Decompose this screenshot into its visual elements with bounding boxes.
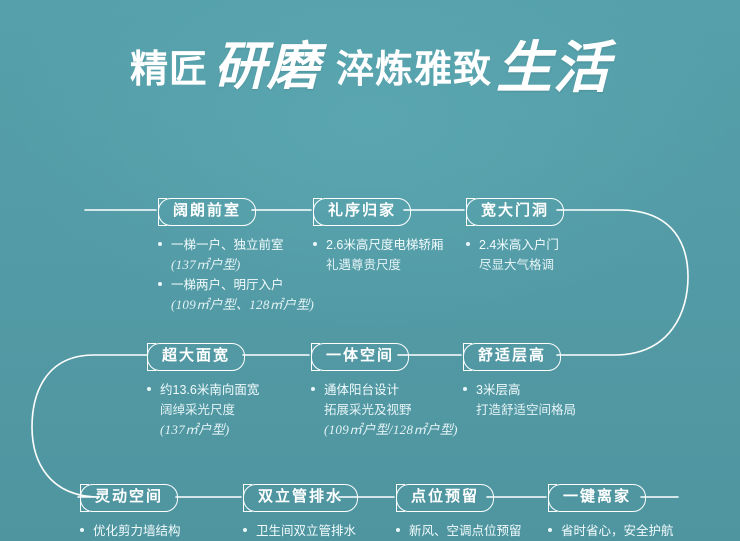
- feature-card-lixuguijia[interactable]: 礼序归家 2.6米高尺度电梯轿厢礼遇尊贵尺度: [313, 198, 443, 275]
- bullet-text: 新风、空调点位预留: [409, 524, 522, 538]
- feature-card-lingdongkongjian[interactable]: 灵动空间 优化剪力墙结构实现空间多变: [80, 484, 181, 541]
- bullet-text: 卫生间双立管排水: [256, 524, 356, 538]
- feature-card-shushicenggao[interactable]: 舒适层高 3米层高打造舒适空间格局: [463, 343, 576, 420]
- feature-bullet-list: 2.6米高尺度电梯轿厢礼遇尊贵尺度: [313, 235, 443, 275]
- feature-title-badge[interactable]: 阔朗前室: [158, 198, 256, 226]
- feature-title-badge[interactable]: 点位预留: [396, 484, 494, 512]
- feature-card-yijianlijia[interactable]: 一键离家 省时省心，安全护航: [548, 484, 674, 541]
- bullet-subtext: 尽显大气格调: [479, 255, 564, 275]
- feature-bullet-list: 约13.6米南向面宽阔绰采光尺度(137㎡户型): [147, 380, 259, 440]
- bullet-dot-icon: [158, 242, 162, 246]
- bullet-dot-icon: [548, 528, 552, 532]
- poster-canvas: 精匠研磨淬炼雅致生活 阔朗前室 一梯一户、独立前室(137㎡户型) 一梯两户、明…: [0, 0, 740, 541]
- bullet-text: 2.6米高尺度电梯轿厢: [326, 238, 443, 252]
- feature-title-badge[interactable]: 一体空间: [311, 343, 409, 371]
- bullet-subtext: 礼遇尊贵尺度: [326, 255, 443, 275]
- feature-bullet-list: 2.4米高入户门尽显大气格调: [466, 235, 564, 275]
- list-item: 2.4米高入户门尽显大气格调: [466, 235, 564, 275]
- bullet-text: 通体阳台设计: [324, 383, 399, 397]
- feature-bullet-list: 通体阳台设计拓展采光及视野(109㎡户型/128㎡户型): [311, 380, 458, 440]
- feature-bullet-list: 卫生间双立管排水有效防止异味: [243, 521, 358, 541]
- bullet-subtext: 阔绰采光尺度: [160, 400, 259, 420]
- feature-card-dianweiyuliu[interactable]: 点位预留 新风、空调点位预留便于后期装修: [396, 484, 522, 541]
- feature-bullet-list: 一梯一户、独立前室(137㎡户型) 一梯两户、明厅入户(109㎡户型、128㎡户…: [158, 235, 314, 315]
- bullet-subtext: 拓展采光及视野: [324, 400, 458, 420]
- list-item: 省时省心，安全护航: [548, 521, 674, 541]
- feature-title-badge[interactable]: 礼序归家: [313, 198, 411, 226]
- bullet-dot-icon: [466, 242, 470, 246]
- feature-title-badge[interactable]: 超大面宽: [147, 343, 245, 371]
- title-part-1: 精匠: [130, 51, 208, 89]
- list-item: 一梯一户、独立前室(137㎡户型): [158, 235, 314, 275]
- bullet-subtext-2: (137㎡户型): [160, 420, 259, 440]
- bullet-dot-icon: [243, 528, 247, 532]
- list-item: 优化剪力墙结构实现空间多变: [80, 521, 181, 541]
- bullet-dot-icon: [313, 242, 317, 246]
- bullet-text: 3米层高: [476, 383, 520, 397]
- bullet-subtext-2: (109㎡户型/128㎡户型): [324, 420, 458, 440]
- list-item: 2.6米高尺度电梯轿厢礼遇尊贵尺度: [313, 235, 443, 275]
- bullet-text: 一梯一户、独立前室: [171, 238, 284, 252]
- bullet-subtext: 打造舒适空间格局: [476, 400, 576, 420]
- bullet-subtext: (137㎡户型): [171, 255, 314, 275]
- bullet-dot-icon: [158, 282, 162, 286]
- bullet-dot-icon: [463, 387, 467, 391]
- feature-card-kuandamendong[interactable]: 宽大门洞 2.4米高入户门尽显大气格调: [466, 198, 564, 275]
- bullet-text: 一梯两户、明厅入户: [171, 278, 284, 292]
- list-item: 约13.6米南向面宽阔绰采光尺度(137㎡户型): [147, 380, 259, 440]
- feature-title-badge[interactable]: 舒适层高: [463, 343, 561, 371]
- list-item: 3米层高打造舒适空间格局: [463, 380, 576, 420]
- list-item: 一梯两户、明厅入户(109㎡户型、128㎡户型): [158, 275, 314, 315]
- title-part-4: 生活: [496, 41, 610, 97]
- bullet-dot-icon: [396, 528, 400, 532]
- feature-card-shuangliguanpaishui[interactable]: 双立管排水 卫生间双立管排水有效防止异味: [243, 484, 358, 541]
- list-item: 通体阳台设计拓展采光及视野(109㎡户型/128㎡户型): [311, 380, 458, 440]
- feature-card-chaodamiankuan[interactable]: 超大面宽 约13.6米南向面宽阔绰采光尺度(137㎡户型): [147, 343, 259, 440]
- bullet-text: 2.4米高入户门: [479, 238, 559, 252]
- feature-title-badge[interactable]: 宽大门洞: [466, 198, 564, 226]
- bullet-dot-icon: [147, 387, 151, 391]
- feature-bullet-list: 3米层高打造舒适空间格局: [463, 380, 576, 420]
- connector-right-uturn: [557, 210, 688, 355]
- list-item: 卫生间双立管排水有效防止异味: [243, 521, 358, 541]
- bullet-text: 省时省心，安全护航: [561, 524, 674, 538]
- feature-card-yitikongjian[interactable]: 一体空间 通体阳台设计拓展采光及视野(109㎡户型/128㎡户型): [311, 343, 458, 440]
- feature-title-badge[interactable]: 一键离家: [548, 484, 646, 512]
- feature-bullet-list: 优化剪力墙结构实现空间多变: [80, 521, 181, 541]
- feature-bullet-list: 新风、空调点位预留便于后期装修: [396, 521, 522, 541]
- bullet-dot-icon: [80, 528, 84, 532]
- bullet-dot-icon: [311, 387, 315, 391]
- title-part-3: 淬炼雅致: [336, 51, 492, 89]
- connector-left-uturn: [32, 355, 147, 497]
- feature-card-kuanglangqianshi[interactable]: 阔朗前室 一梯一户、独立前室(137㎡户型) 一梯两户、明厅入户(109㎡户型、…: [158, 198, 314, 315]
- title-part-2: 研磨: [214, 42, 320, 94]
- list-item: 新风、空调点位预留便于后期装修: [396, 521, 522, 541]
- bullet-text: 优化剪力墙结构: [93, 524, 181, 538]
- bullet-subtext: (109㎡户型、128㎡户型): [171, 295, 314, 315]
- feature-bullet-list: 省时省心，安全护航: [548, 521, 674, 541]
- feature-title-badge[interactable]: 双立管排水: [243, 484, 358, 512]
- page-title: 精匠研磨淬炼雅致生活: [0, 38, 740, 94]
- feature-title-badge[interactable]: 灵动空间: [80, 484, 178, 512]
- bullet-text: 约13.6米南向面宽: [160, 383, 259, 397]
